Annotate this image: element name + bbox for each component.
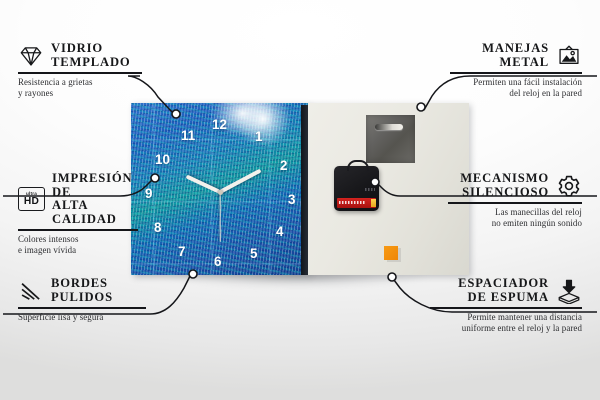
ultra-hd-badge-icon: ultra HD: [18, 187, 45, 211]
feature-title-line1: ESPACIADOR: [430, 277, 549, 291]
feature-rule: [450, 72, 582, 74]
picture-frame-hanger-icon: [556, 43, 582, 69]
feature-rule: [18, 229, 138, 231]
callout-dot-espaciador: [388, 273, 396, 281]
feature-title-line1: MANEJAS: [450, 42, 549, 56]
feature-subtitle-line1: Permite mantener una distancia: [430, 312, 582, 323]
feature-rule: [448, 202, 582, 204]
diagonal-lines-icon: [18, 278, 44, 304]
feature-title-line1: BORDES: [51, 277, 113, 291]
feature-espaciador-espuma[interactable]: ESPACIADOR DE ESPUMA Permite mantener un…: [430, 277, 582, 333]
feature-title-line2: TEMPLADO: [51, 56, 131, 70]
feature-subtitle-line2: uniforme entre el reloj y la pared: [430, 323, 582, 334]
feature-subtitle-line2: e imagen vívida: [18, 245, 138, 256]
diamond-icon: [18, 43, 44, 69]
feature-title-line1: IMPRESIÓN DE: [52, 172, 138, 199]
arrow-down-stack-icon: [556, 278, 582, 304]
feature-subtitle-line1: Superficie lisa y segura: [18, 312, 146, 323]
callout-dot-impresion: [151, 174, 159, 182]
feature-subtitle-line1: Colores intensos: [18, 234, 138, 245]
feature-manejas-metal[interactable]: MANEJAS METAL Permiten una fácil instala…: [450, 42, 582, 98]
feature-subtitle-line1: Permiten una fácil instalación: [450, 77, 582, 88]
feature-title-line2: SILENCIOSO: [448, 186, 549, 200]
feature-subtitle-line2: del reloj en la pared: [450, 88, 582, 99]
feature-title-line1: MECANISMO: [448, 172, 549, 186]
feature-bordes-pulidos[interactable]: BORDES PULIDOS Superficie lisa y segura: [18, 277, 146, 323]
feature-title-line2: DE ESPUMA: [430, 291, 549, 305]
callout-dot-manejas: [417, 103, 425, 111]
feature-title-line2: PULIDOS: [51, 291, 113, 305]
feature-title-line2: METAL: [450, 56, 549, 70]
feature-mecanismo-silencioso[interactable]: MECANISMO SILENCIOSO Las manecillas del …: [448, 172, 582, 228]
badge-hd-text: HD: [24, 197, 39, 207]
feature-title-line2: ALTA CALIDAD: [52, 199, 138, 226]
infographic-canvas: 12 1 2 3 4 5 6 7 8 9 10 11: [0, 0, 600, 400]
feature-title-line1: VIDRIO: [51, 42, 131, 56]
feature-subtitle-line1: Resistencia a grietas: [18, 77, 142, 88]
gear-icon: [556, 173, 582, 199]
feature-subtitle-line2: no emiten ningún sonido: [448, 218, 582, 229]
callout-dot-mecanismo: [371, 178, 379, 186]
feature-subtitle-line1: Las manecillas del reloj: [448, 207, 582, 218]
feature-rule: [430, 307, 582, 309]
callout-dot-bordes: [189, 270, 197, 278]
feature-rule: [18, 307, 146, 309]
feature-subtitle-line2: y rayones: [18, 88, 142, 99]
feature-rule: [18, 72, 142, 74]
feature-impresion-alta-calidad[interactable]: ultra HD IMPRESIÓN DE ALTA CALIDAD Color…: [18, 172, 138, 256]
callout-dot-vidrio: [172, 110, 180, 118]
feature-vidrio-templado[interactable]: VIDRIO TEMPLADO Resistencia a grietas y …: [18, 42, 142, 98]
